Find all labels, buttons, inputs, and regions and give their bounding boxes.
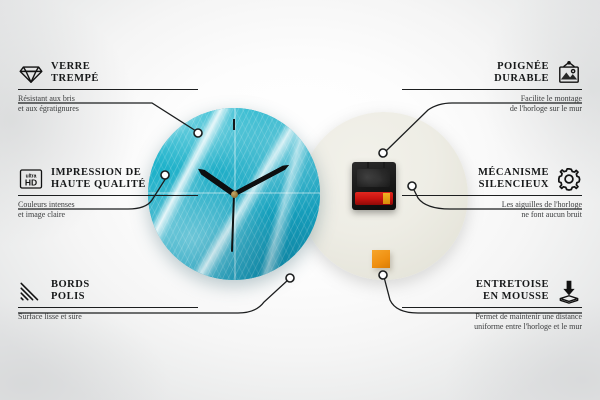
feature-divider bbox=[402, 89, 582, 90]
feature-description: Résistant aux bris et aux égratignures bbox=[18, 94, 198, 114]
feature-divider bbox=[18, 195, 198, 196]
wall-hanger-icon bbox=[556, 60, 582, 86]
feature-description: Permet de maintenir une distance uniform… bbox=[402, 312, 582, 332]
feature-description: Facilite le montage de l'horloge sur le … bbox=[402, 94, 582, 114]
feature-divider bbox=[18, 307, 198, 308]
product-infographic: VERRE TREMPÉ Résistant aux bris et aux é… bbox=[0, 0, 600, 400]
battery-terminal bbox=[383, 193, 390, 204]
clock-mechanism bbox=[352, 162, 396, 210]
feature-divider bbox=[402, 195, 582, 196]
feature-title: VERRE TREMPÉ bbox=[51, 61, 99, 86]
feature-divider bbox=[402, 307, 582, 308]
gear-icon bbox=[556, 166, 582, 192]
feature-poignee-durable: POIGNÉE DURABLE Facilite le montage de l… bbox=[402, 60, 582, 114]
feature-description: Les aiguilles de l'horloge ne font aucun… bbox=[402, 200, 582, 220]
feature-header: POIGNÉE DURABLE bbox=[402, 60, 582, 86]
feature-title: IMPRESSION DE HAUTE QUALITÉ bbox=[51, 167, 146, 192]
hour-mark bbox=[233, 119, 235, 130]
mechanism-housing-detail bbox=[357, 169, 390, 187]
feature-entretoise-en-mousse: ENTRETOISE EN MOUSSE Permet de maintenir… bbox=[402, 278, 582, 332]
feature-header: BORDS POLIS bbox=[18, 278, 198, 304]
feature-divider bbox=[18, 89, 198, 90]
feature-mecanisme-silencieux: MÉCANISME SILENCIEUX Les aiguilles de l'… bbox=[402, 166, 582, 220]
feature-impression-haute-qualite: ultra HD IMPRESSION DE HAUTE QUALITÉ Cou… bbox=[18, 166, 198, 220]
feature-description: Couleurs intenses et image claire bbox=[18, 200, 198, 220]
foam-spacer-pad bbox=[372, 250, 390, 268]
hands-center-cap bbox=[231, 191, 238, 198]
feature-header: ultra HD IMPRESSION DE HAUTE QUALITÉ bbox=[18, 166, 198, 192]
feature-title: POIGNÉE DURABLE bbox=[494, 61, 549, 86]
feature-description: Surface lisse et sûre bbox=[18, 312, 198, 322]
diamond-icon bbox=[18, 60, 44, 86]
polished-edges-icon bbox=[18, 278, 44, 304]
feature-title: BORDS POLIS bbox=[51, 279, 90, 304]
feature-header: ENTRETOISE EN MOUSSE bbox=[402, 278, 582, 304]
feature-title: MÉCANISME SILENCIEUX bbox=[478, 167, 549, 192]
battery bbox=[355, 192, 393, 205]
feature-title: ENTRETOISE EN MOUSSE bbox=[476, 279, 549, 304]
ultra-hd-icon: ultra HD bbox=[18, 166, 44, 192]
feature-header: MÉCANISME SILENCIEUX bbox=[402, 166, 582, 192]
svg-text:HD: HD bbox=[25, 178, 37, 188]
feature-bords-polis: BORDS POLIS Surface lisse et sûre bbox=[18, 278, 198, 322]
mechanism-hanger-tab bbox=[367, 162, 385, 168]
foam-spacer-icon bbox=[556, 278, 582, 304]
feature-header: VERRE TREMPÉ bbox=[18, 60, 198, 86]
feature-verre-trempe: VERRE TREMPÉ Résistant aux bris et aux é… bbox=[18, 60, 198, 114]
